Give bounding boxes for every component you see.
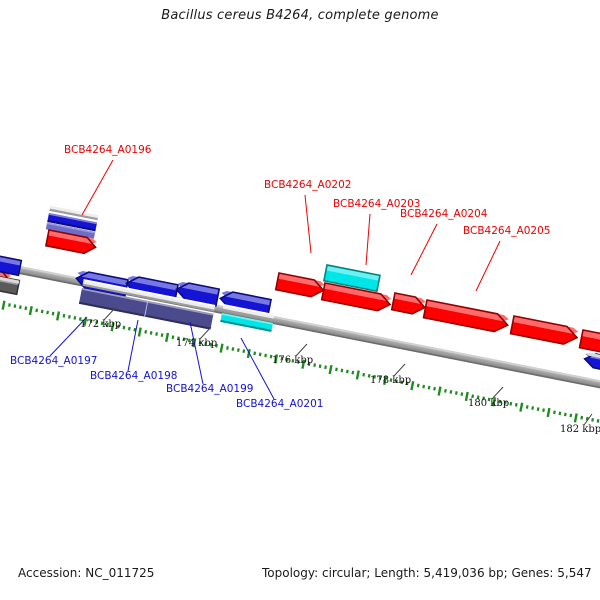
ruler-minor-tick bbox=[259, 353, 262, 357]
ruler-minor-tick bbox=[515, 403, 518, 407]
label-A0196[interactable]: BCB4264_A0196 bbox=[64, 144, 152, 156]
ruler-minor-tick bbox=[161, 333, 164, 337]
ruler-minor-tick bbox=[580, 416, 583, 420]
ruler-major-tick bbox=[574, 413, 578, 422]
ruler-minor-tick bbox=[8, 303, 11, 307]
ruler-minor-tick bbox=[362, 373, 365, 377]
ruler-major-tick bbox=[165, 333, 169, 342]
ruler-minor-tick bbox=[449, 390, 452, 394]
label-A0205[interactable]: BCB4264_A0205 bbox=[463, 225, 550, 237]
gene-right-red-edge[interactable] bbox=[580, 330, 600, 355]
ruler-minor-tick bbox=[335, 368, 338, 372]
ruler-minor-tick bbox=[13, 304, 16, 308]
ruler-minor-tick bbox=[351, 371, 354, 375]
label-A0202-leader bbox=[305, 195, 311, 253]
gene-A0204[interactable] bbox=[392, 293, 427, 316]
ruler-minor-tick bbox=[35, 309, 38, 313]
ruler-minor-tick bbox=[41, 310, 44, 314]
ruler-minor-tick bbox=[324, 365, 327, 369]
ruler-minor-tick bbox=[428, 386, 431, 390]
ruler-minor-tick bbox=[242, 349, 245, 353]
ruler-minor-tick bbox=[231, 347, 234, 351]
ruler-minor-tick bbox=[68, 315, 71, 319]
ruler-minor-tick bbox=[537, 407, 540, 411]
label-A0202[interactable]: BCB4264_A0202 bbox=[264, 179, 351, 191]
label-A0201[interactable]: BCB4264_A0201 bbox=[236, 398, 323, 410]
ruler-minor-tick bbox=[455, 391, 458, 395]
label-A0197[interactable]: BCB4264_A0197 bbox=[10, 355, 97, 367]
ruler-minor-tick bbox=[569, 414, 572, 418]
gene-right-red-1[interactable] bbox=[511, 316, 579, 346]
ruler-minor-tick bbox=[313, 363, 316, 367]
ruler-minor-tick bbox=[433, 387, 436, 391]
status-bar: Accession: NC_011725 Topology: circular;… bbox=[0, 566, 600, 582]
ruler-minor-tick bbox=[237, 348, 240, 352]
ruler-176: 176 kbp bbox=[272, 355, 313, 366]
ruler-major-tick bbox=[547, 408, 551, 417]
ruler-178: 178 kbp bbox=[370, 375, 411, 386]
gene-left-gray-1[interactable] bbox=[0, 274, 19, 294]
genome-map[interactable]: 172 kbp174 kbp176 kbp178 kbp180 kbp182 k… bbox=[0, 0, 600, 600]
ruler-minor-tick bbox=[46, 311, 49, 315]
gene-A0202[interactable] bbox=[276, 273, 325, 299]
ruler-172: 172 kbp bbox=[80, 319, 121, 330]
ruler-minor-tick bbox=[226, 346, 229, 350]
ruler-minor-tick bbox=[553, 410, 556, 414]
ruler-minor-tick bbox=[542, 408, 545, 412]
ruler-major-tick bbox=[220, 343, 224, 352]
ruler-minor-tick bbox=[150, 331, 153, 335]
ruler-minor-tick bbox=[155, 332, 158, 336]
label-A0205-leader bbox=[476, 241, 500, 291]
accession-text: Accession: NC_011725 bbox=[18, 566, 154, 580]
ruler-minor-tick bbox=[422, 385, 425, 389]
ruler-174: 174 kbp bbox=[176, 338, 217, 349]
label-A0196-leader bbox=[82, 160, 113, 215]
label-A0204[interactable]: BCB4264_A0204 bbox=[400, 208, 488, 220]
ruler-minor-tick bbox=[558, 412, 561, 416]
ruler-major-tick bbox=[519, 403, 523, 412]
genome-viewer-canvas: Bacillus cereus B4264, complete genome 1… bbox=[0, 0, 600, 600]
ruler-minor-tick bbox=[597, 419, 600, 423]
label-A0199[interactable]: BCB4264_A0199 bbox=[166, 383, 253, 395]
label-A0198[interactable]: BCB4264_A0198 bbox=[90, 370, 177, 382]
ruler-minor-tick bbox=[591, 418, 594, 422]
ruler-minor-tick bbox=[264, 354, 267, 358]
ruler-major-tick bbox=[2, 301, 6, 310]
ruler-minor-tick bbox=[346, 370, 349, 374]
ruler-minor-tick bbox=[253, 351, 256, 355]
ruler-minor-tick bbox=[417, 384, 420, 388]
gene-A0205[interactable] bbox=[424, 300, 510, 334]
ruler-minor-tick bbox=[52, 312, 55, 316]
ruler-major-tick bbox=[329, 365, 333, 374]
ruler-minor-tick bbox=[172, 335, 175, 339]
ruler-minor-tick bbox=[73, 316, 76, 320]
label-A0199-leader bbox=[190, 322, 203, 384]
ruler-minor-tick bbox=[144, 330, 147, 334]
ruler-minor-tick bbox=[128, 327, 131, 331]
ruler-major-tick bbox=[438, 386, 442, 395]
ruler-minor-tick bbox=[564, 413, 567, 417]
ruler-minor-tick bbox=[319, 364, 322, 368]
ruler-major-tick bbox=[56, 311, 60, 320]
ruler-major-tick bbox=[138, 327, 142, 336]
ruler-minor-tick bbox=[24, 306, 27, 310]
gene-right-blue-edge[interactable] bbox=[583, 352, 600, 372]
gene-left-blue-1[interactable] bbox=[0, 254, 21, 275]
label-A0203-leader bbox=[366, 214, 370, 265]
ruler-minor-tick bbox=[526, 405, 529, 409]
ruler-minor-tick bbox=[531, 406, 534, 410]
label-A0204-leader bbox=[411, 224, 437, 275]
ruler-180: 180 kbp bbox=[468, 398, 509, 409]
topology-text: Topology: circular; Length: 5,419,036 bp… bbox=[262, 566, 592, 580]
ruler-major-tick bbox=[29, 306, 33, 315]
ruler-minor-tick bbox=[63, 314, 66, 318]
ruler-minor-tick bbox=[19, 305, 22, 309]
ruler-182: 182 kbp bbox=[560, 424, 600, 435]
ruler-minor-tick bbox=[122, 326, 125, 330]
ruler-major-tick bbox=[356, 370, 360, 379]
ruler-minor-tick bbox=[444, 389, 447, 393]
ruler-minor-tick bbox=[340, 369, 343, 373]
ruler-minor-tick bbox=[460, 392, 463, 396]
ruler-minor-tick bbox=[509, 402, 512, 406]
